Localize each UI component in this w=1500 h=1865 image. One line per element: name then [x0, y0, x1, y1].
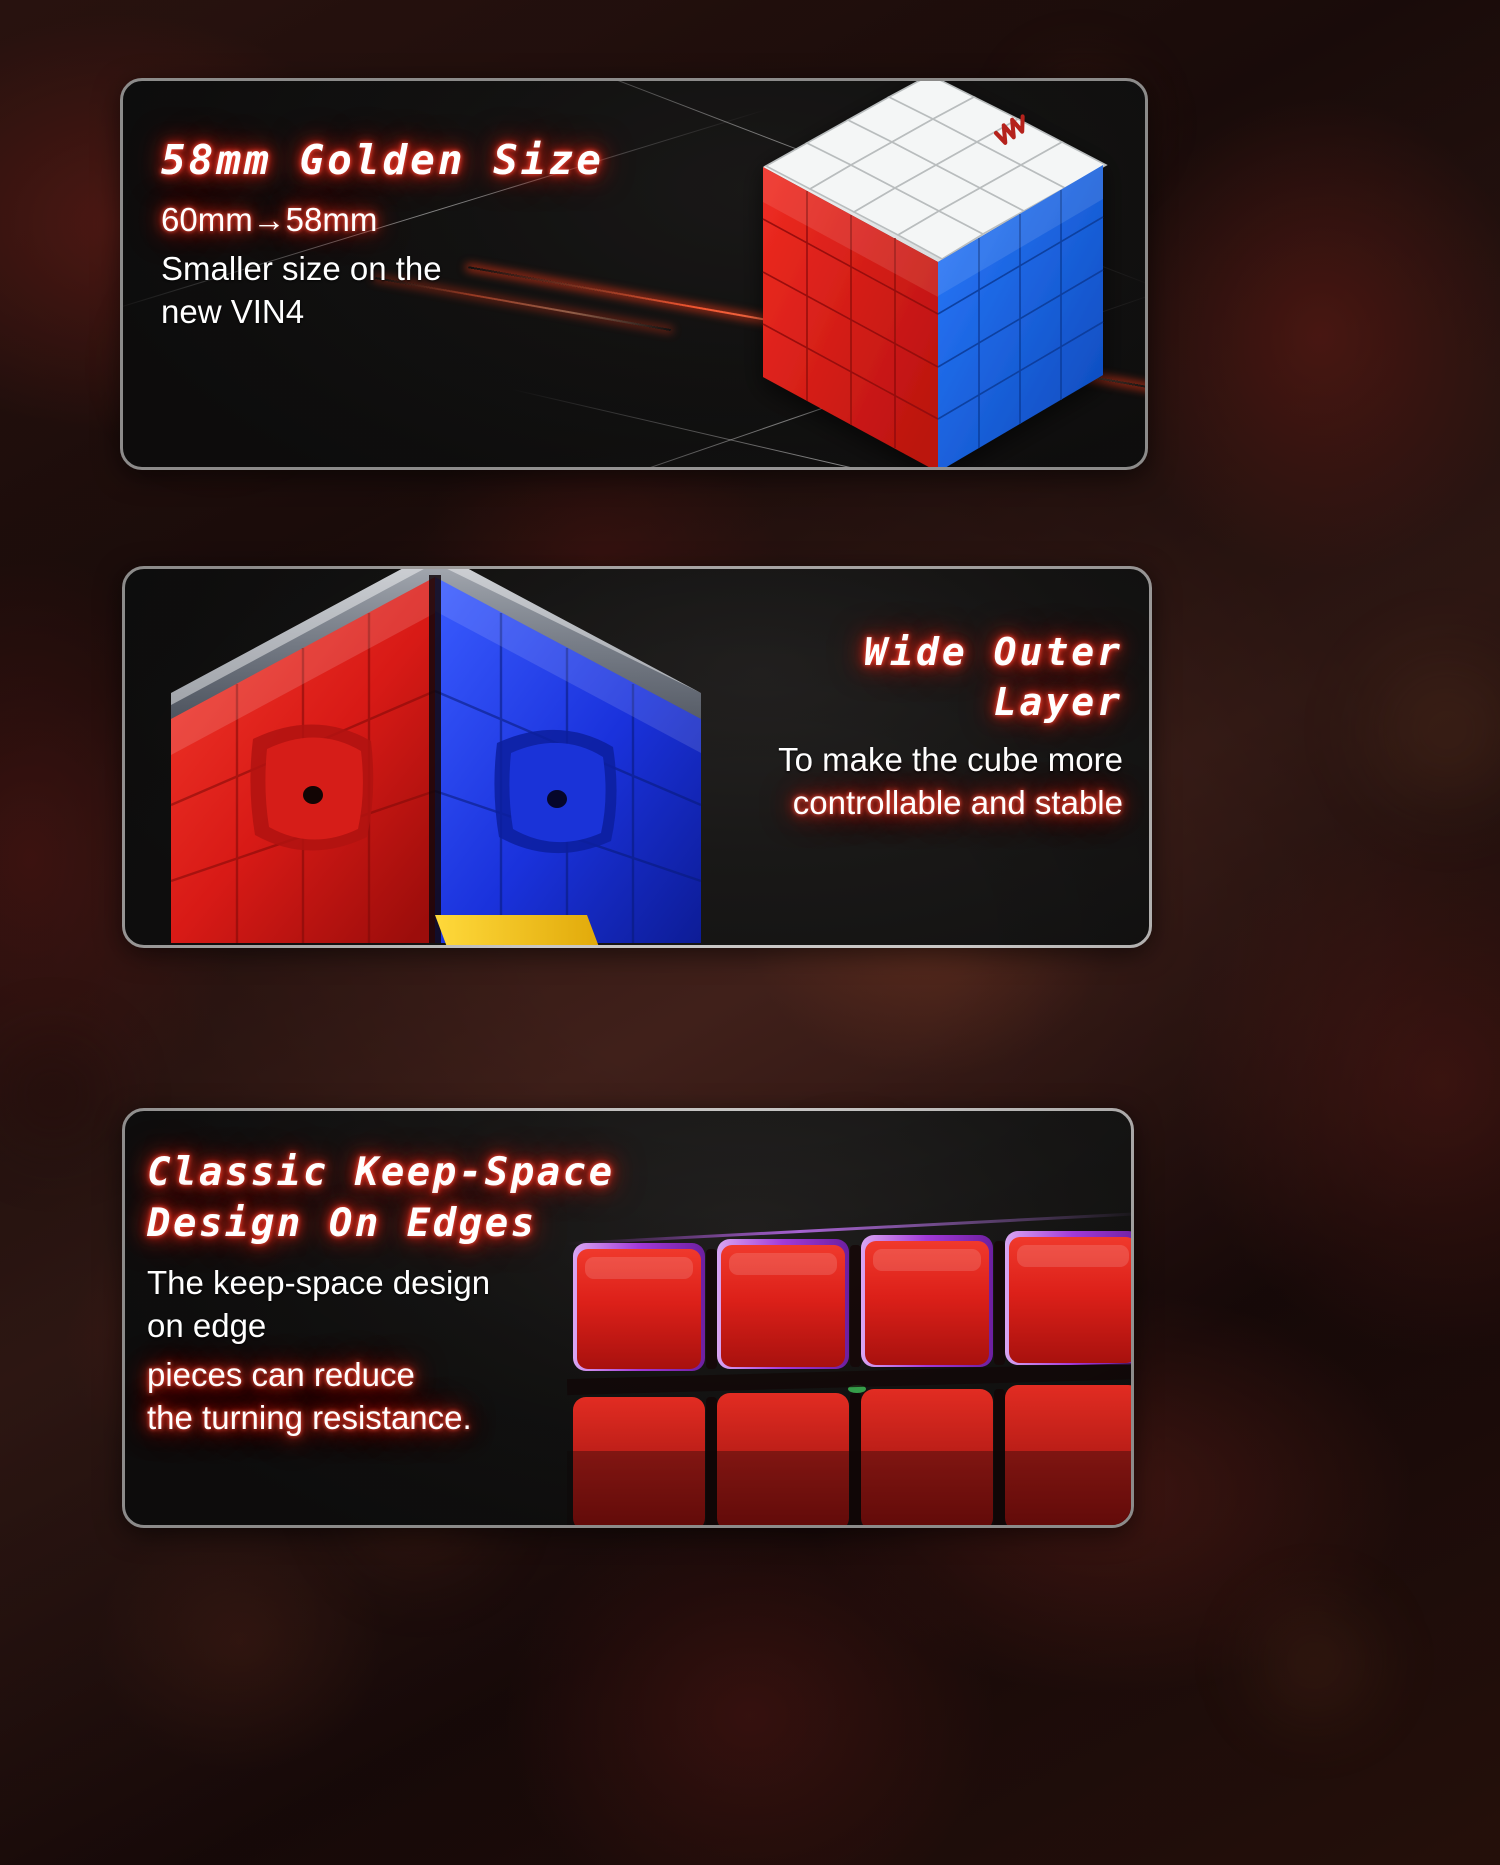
feature-panel-keep-space-design: Classic Keep-Space Design On Edges The k… [122, 1108, 1134, 1528]
panel-3-line-3: pieces can reduce [147, 1354, 615, 1397]
panel-3-text-block: Classic Keep-Space Design On Edges The k… [147, 1147, 615, 1440]
edge-pieces-svg [567, 1201, 1134, 1528]
page-root: 58mm Golden Size 60mm→58mm Smaller size … [0, 0, 1500, 1865]
blue-center-cap [494, 730, 616, 853]
cube-face-yellow [435, 915, 605, 948]
panel-3-heading-line-1: Classic Keep-Space [147, 1147, 615, 1198]
panel-1-line-1: 60mm→58mm [161, 199, 604, 242]
panel-1-heading: 58mm Golden Size [161, 133, 604, 187]
panel-1-text-block: 58mm Golden Size 60mm→58mm Smaller size … [161, 133, 604, 334]
panel-3-line-4: the turning resistance. [147, 1397, 615, 1440]
panel-3-line-1: The keep-space design [147, 1262, 615, 1305]
feature-panel-wide-outer-layer: Wide Outer Layer To make the cube more c… [122, 566, 1152, 948]
panel-3-heading-line-2: Design On Edges [147, 1198, 615, 1249]
panel-2-heading-line-1: Wide Outer [778, 627, 1123, 677]
cube-corner-svg [135, 566, 755, 948]
panel-3-line-2: on edge [147, 1305, 615, 1348]
cube-corner-seam [429, 575, 441, 943]
cube-4x4-stickerless-image [593, 78, 1148, 470]
panel-1-line-3: new VIN4 [161, 291, 604, 334]
panel-2-heading-line-2: Layer [778, 677, 1123, 727]
feature-panel-golden-size: 58mm Golden Size 60mm→58mm Smaller size … [120, 78, 1148, 470]
panel-2-text-block: Wide Outer Layer To make the cube more c… [778, 627, 1123, 825]
cube-corner-closeup-image [135, 566, 755, 948]
red-center-cap [250, 724, 373, 850]
panel-2-line-1: To make the cube more [778, 739, 1123, 782]
panel-2-line-2: controllable and stable [778, 782, 1123, 825]
red-edge-pieces-row-image [567, 1201, 1134, 1528]
cube-svg [593, 78, 1148, 470]
panel-1-line-2: Smaller size on the [161, 248, 604, 291]
